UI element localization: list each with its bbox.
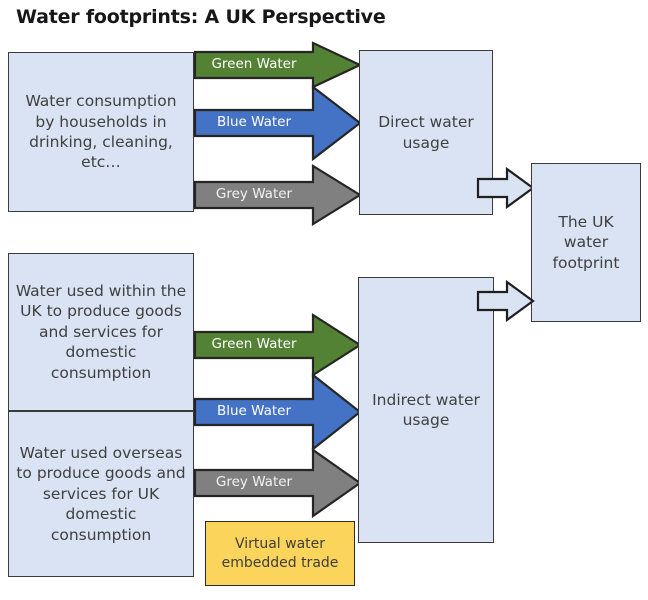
household-consumption-box: Water consumption by households in drink… (8, 52, 194, 212)
direct-water-usage-box: Direct water usage (359, 50, 493, 215)
uk-water-footprint-box: The UK water footprint (531, 163, 641, 322)
green-water-arrow-indirect (194, 330, 362, 360)
uk-domestic-production-box: Water used within the UK to produce good… (8, 253, 194, 411)
blue-water-arrow-indirect (194, 397, 362, 427)
green-water-arrow-direct (194, 50, 362, 80)
indirect-water-usage-box: Indirect water usage (358, 277, 494, 543)
indirect-to-footprint-arrow (477, 281, 535, 321)
overseas-production-box: Water used overseas to produce goods and… (8, 411, 194, 577)
page-title: Water footprints: A UK Perspective (16, 6, 386, 28)
virtual-water-embedded-trade-box: Virtual water embedded trade (205, 521, 355, 586)
grey-water-arrow-indirect (194, 468, 362, 498)
grey-water-arrow-direct (194, 180, 362, 210)
direct-to-footprint-arrow (477, 168, 535, 208)
blue-water-arrow-direct (194, 108, 362, 138)
diagram-canvas: Water footprints: A UK Perspective Water… (0, 0, 648, 600)
